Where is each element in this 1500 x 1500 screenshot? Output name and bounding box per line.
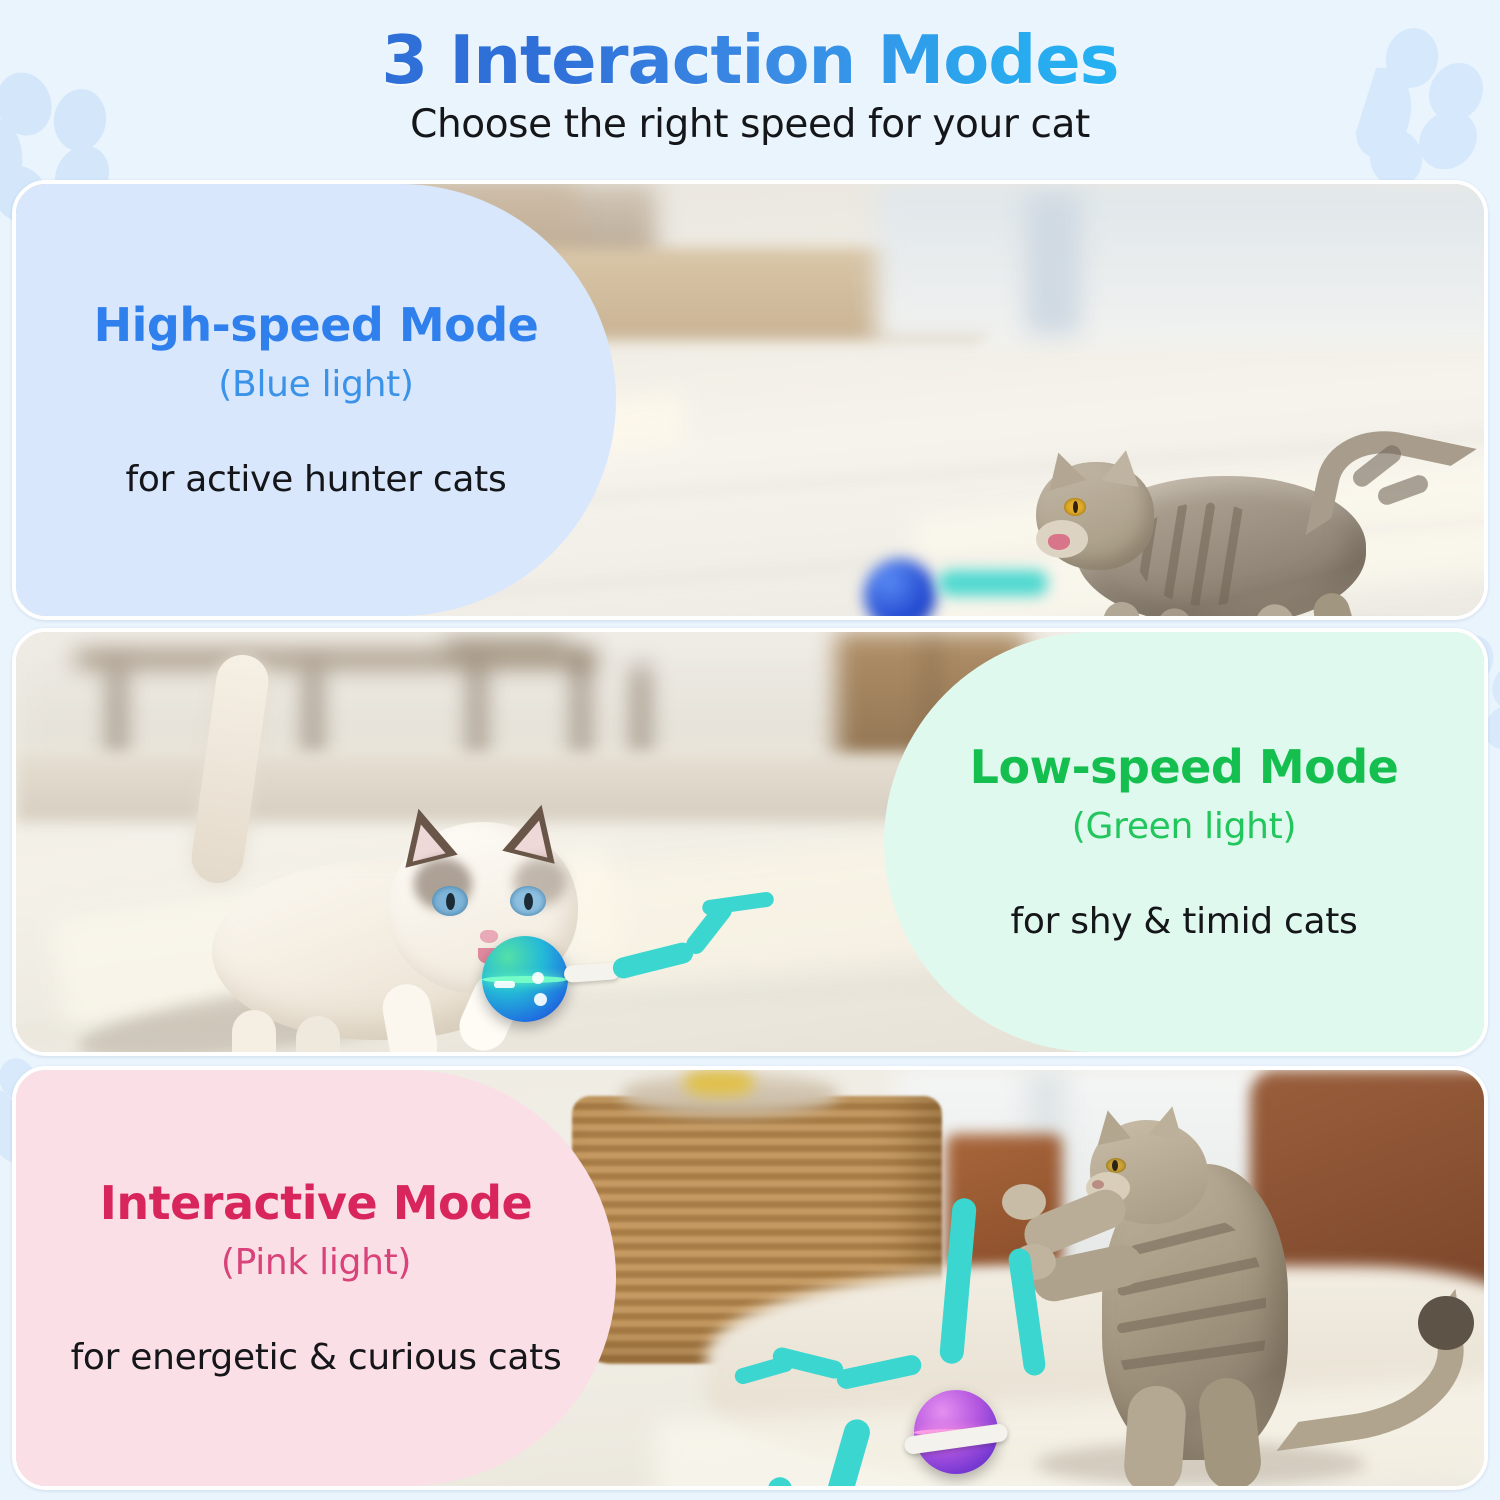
mode-panel-low-speed[interactable]: Low-speed Mode (Green light) for shy & t…	[12, 628, 1488, 1056]
page-title: 3 Interaction Modes	[381, 24, 1118, 96]
cat-illustration	[966, 1106, 1486, 1490]
page-subtitle: Choose the right speed for your cat	[410, 102, 1090, 147]
mode-panel-high-speed[interactable]: High-speed Mode (Blue light) for active …	[12, 180, 1488, 620]
mode-description: for energetic & curious cats	[71, 1337, 562, 1378]
mode-text-bubble-high-speed: High-speed Mode (Blue light) for active …	[12, 184, 616, 616]
toy-ball-green	[482, 936, 568, 1022]
mode-title: High-speed Mode	[94, 300, 539, 351]
ball-logo	[494, 981, 515, 989]
mode-title: Low-speed Mode	[970, 742, 1399, 793]
mode-light-label: (Pink light)	[221, 1242, 411, 1283]
cat-illustration	[1016, 424, 1476, 620]
mode-text-bubble-interactive: Interactive Mode (Pink light) for energe…	[12, 1070, 616, 1486]
mode-panel-interactive[interactable]: Interactive Mode (Pink light) for energe…	[12, 1066, 1488, 1490]
mode-light-label: (Blue light)	[218, 364, 413, 405]
mode-description: for active hunter cats	[126, 459, 507, 500]
mode-title: Interactive Mode	[100, 1178, 533, 1229]
mode-description: for shy & timid cats	[1011, 901, 1358, 942]
mode-light-label: (Green light)	[1072, 806, 1296, 847]
header: 3 Interaction Modes Choose the right spe…	[0, 0, 1500, 176]
mode-text-bubble-low-speed: Low-speed Mode (Green light) for shy & t…	[884, 632, 1488, 1052]
